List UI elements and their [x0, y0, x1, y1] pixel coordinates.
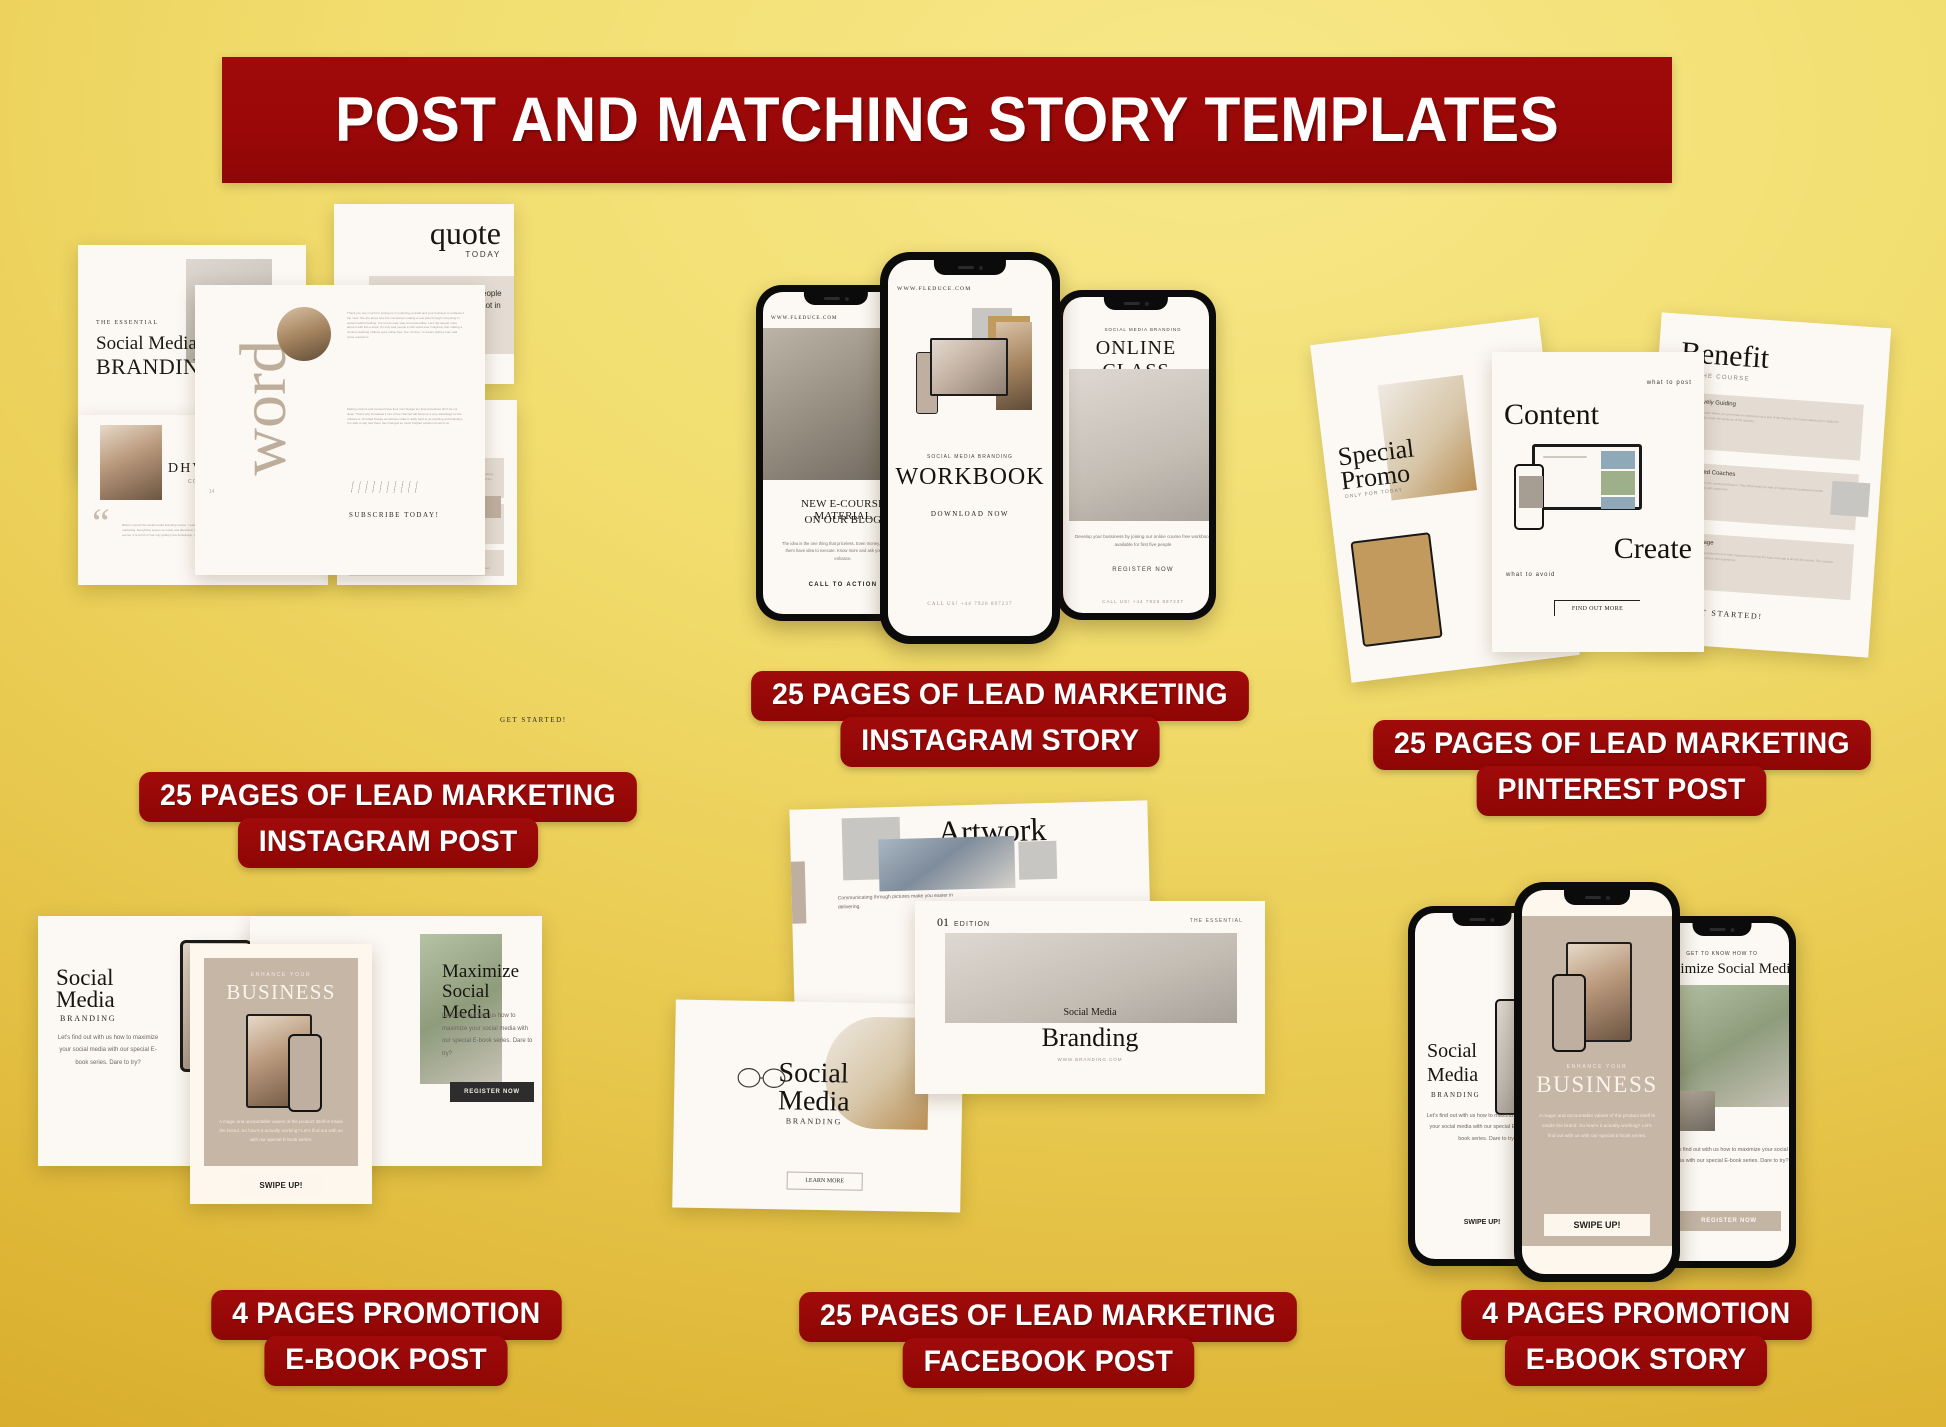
- ebook-story-1-title-2: Media: [1427, 1065, 1478, 1086]
- fb-edition-card[interactable]: 01 EDITION THE ESSENTIAL Social Media Br…: [915, 901, 1265, 1094]
- phone-notch: [1453, 913, 1512, 926]
- ig-post-profile-photo: [100, 425, 162, 500]
- ebook-story-1-subtitle: BRANDING: [1431, 1091, 1480, 1099]
- ig-story-1-url: WWW.FLEDUCE.COM: [771, 316, 838, 321]
- ig-post-word-cta[interactable]: SUBSCRIBE TODAY!: [349, 511, 439, 519]
- ebook-story-2-cta-wrap: SWIPE UP!: [1544, 1214, 1650, 1236]
- ig-story-3-eyebrow: SOCIAL MEDIA BRANDING: [1071, 327, 1209, 332]
- fb-social-subtitle: BRANDING: [786, 1116, 842, 1126]
- ig-story-2-url: WWW.FLEDUCE.COM: [897, 286, 972, 292]
- label-pinterest-post: 25 PAGES OF LEAD MARKETING PINTEREST POS…: [1360, 720, 1884, 816]
- label-line-1: 25 PAGES OF LEAD MARKETING: [751, 671, 1249, 721]
- ig-post-word-page-no: 14: [209, 489, 215, 495]
- ig-story-2-cta[interactable]: DOWNLOAD NOW: [888, 510, 1052, 518]
- ig-story-phone-center[interactable]: WWW.FLEDUCE.COM SOCIAL MEDIA BRANDING WO…: [880, 252, 1060, 644]
- pin-content-title-1: Content: [1504, 398, 1599, 432]
- page-title: POST AND MATCHING STORY TEMPLATES: [335, 84, 1559, 156]
- ebook-post-center-title: BUSINESS: [204, 980, 358, 1005]
- ig-story-2-footer: CALL US! +44 7926 897237: [888, 602, 1052, 607]
- signature-mark: [350, 481, 420, 493]
- label-line-2: E-BOOK POST: [265, 1336, 508, 1386]
- ebook-story-2-eyebrow: ENHANCE YOUR: [1522, 1064, 1672, 1070]
- ig-post-benefit-cta[interactable]: GET STARTED!: [500, 716, 567, 724]
- fb-artwork-photo-right: [1018, 841, 1057, 880]
- ebook-story-2-device-phone: [1552, 974, 1586, 1052]
- phone-notch: [1693, 923, 1752, 936]
- label-line-2: E-BOOK STORY: [1505, 1336, 1768, 1386]
- label-instagram-story: 25 PAGES OF LEAD MARKETING INSTAGRAM STO…: [738, 671, 1262, 767]
- ig-story-2-photo-main: [930, 338, 1008, 396]
- label-line-1: 25 PAGES OF LEAD MARKETING: [1373, 720, 1871, 770]
- pin-content-device-tablet: [1532, 444, 1642, 510]
- label-line-1: 25 PAGES OF LEAD MARKETING: [139, 772, 637, 822]
- ig-post-quote-subtitle: TODAY: [430, 250, 501, 259]
- ebook-post-right-title-1: Maximize: [442, 962, 519, 983]
- label-line-1: 4 PAGES PROMOTION: [1461, 1290, 1811, 1340]
- ig-story-2-eyebrow: SOCIAL MEDIA BRANDING: [888, 454, 1052, 460]
- fb-artwork-photo-edge: [789, 861, 806, 924]
- pin-content-card[interactable]: what to post Content Create what to avoi…: [1492, 352, 1704, 652]
- phone-notch: [934, 260, 1006, 275]
- label-line-2: PINTEREST POST: [1477, 766, 1767, 816]
- ig-story-3-cta[interactable]: REGISTER NOW: [1071, 567, 1209, 573]
- fb-edition-url: WWW.BRANDING.COM: [915, 1057, 1265, 1062]
- ebook-post-center-eyebrow: ENHANCE YOUR: [204, 972, 358, 978]
- label-facebook-post: 25 PAGES OF LEAD MARKETING FACEBOOK POST: [786, 1292, 1310, 1388]
- ig-story-3-photo: [1069, 369, 1209, 521]
- phone-notch: [1564, 890, 1630, 905]
- ig-post-word-body2: Making content and concept have their ow…: [347, 407, 465, 426]
- ig-story-phone-right[interactable]: SOCIAL MEDIA BRANDING ONLINE CLASS Devel…: [1056, 290, 1216, 620]
- ebook-post-right-body: Let's find out with us how to maximize y…: [442, 1010, 534, 1060]
- ig-post-word-body1: Thank you very much for joining us in ex…: [347, 311, 465, 340]
- phone-notch: [804, 292, 868, 305]
- poster-title-banner: POST AND MATCHING STORY TEMPLATES: [222, 57, 1672, 183]
- phone-notch: [1104, 297, 1168, 310]
- ig-story-3-footer: CALL US! +44 7926 897237: [1071, 599, 1209, 604]
- fb-edition-corner: THE ESSENTIAL: [1190, 918, 1243, 924]
- ebook-story-3-photo: [1665, 985, 1789, 1107]
- label-line-2: INSTAGRAM STORY: [840, 717, 1160, 767]
- label-line-1: 25 PAGES OF LEAD MARKETING: [799, 1292, 1297, 1342]
- pin-benefit-thumb: [1830, 481, 1870, 518]
- ebook-post-center-device-phone: [288, 1034, 322, 1112]
- ebook-post-left-subtitle: BRANDING: [60, 1014, 116, 1023]
- fb-edition-no: 01: [937, 915, 949, 930]
- ebook-story-phone-center[interactable]: ENHANCE YOUR BUSINESS A magic and uncoun…: [1514, 882, 1680, 1282]
- label-ebook-post: 4 PAGES PROMOTION E-BOOK POST: [202, 1290, 571, 1386]
- fb-social-cta[interactable]: LEARN MORE: [787, 1171, 863, 1190]
- ebook-story-2-cta[interactable]: SWIPE UP!: [1573, 1220, 1620, 1230]
- pin-content-title-2: Create: [1614, 532, 1692, 566]
- ebook-story-3-cta[interactable]: REGISTER NOW: [1677, 1211, 1781, 1231]
- ebook-post-center-cta[interactable]: SWIPE UP!: [259, 1181, 302, 1190]
- ebook-post-left-body: Let's find out with us how to maximize y…: [54, 1032, 162, 1069]
- ig-post-word-card[interactable]: word 14 Thank you very much for joining …: [195, 285, 485, 575]
- ebook-post-left-title-2: Media: [56, 988, 115, 1012]
- ebook-post-center-card[interactable]: ENHANCE YOUR BUSINESS A magic and uncoun…: [190, 944, 372, 1204]
- label-ebook-story: 4 PAGES PROMOTION E-BOOK STORY: [1452, 1290, 1821, 1386]
- label-instagram-post: 25 PAGES OF LEAD MARKETING INSTAGRAM POS…: [126, 772, 650, 868]
- ebook-story-2-body: A magic and uncountable values of the pr…: [1538, 1112, 1656, 1142]
- fb-edition-title-2: Branding: [915, 1023, 1265, 1053]
- ebook-story-1-title-1: Social: [1427, 1041, 1477, 1062]
- ebook-post-center-cta-wrap: SWIPE UP!: [240, 1174, 322, 1196]
- ig-story-2-title: WORKBOOK: [888, 464, 1052, 491]
- ig-post-word-vertical: word: [231, 340, 297, 476]
- fb-artwork-photo-team: [878, 836, 1015, 892]
- ig-post-word-avatar: [277, 307, 331, 361]
- fb-social-title-2: Media: [778, 1085, 850, 1118]
- ig-story-3-body: Develop your bussiness by joining our on…: [1073, 533, 1209, 549]
- pin-content-bottom-note: what to avoid: [1506, 572, 1555, 578]
- ebook-post-center-inner: ENHANCE YOUR BUSINESS A magic and uncoun…: [204, 958, 358, 1166]
- ebook-story-1-body: Let's find out with us how to maximize y…: [1425, 1111, 1517, 1145]
- quote-mark-open-icon: “: [92, 511, 110, 535]
- label-line-1: 4 PAGES PROMOTION: [211, 1290, 561, 1340]
- pin-content-cta[interactable]: FIND OUT MORE: [1554, 600, 1640, 616]
- ebook-post-right-cta[interactable]: REGISTER NOW: [450, 1082, 534, 1102]
- pin-content-top-note: what to post: [1647, 380, 1692, 386]
- ig-post-quote-title: quote: [430, 218, 501, 248]
- ebook-story-3-body: Let's find out with us how to maximize y…: [1663, 1145, 1789, 1168]
- label-line-2: FACEBOOK POST: [902, 1338, 1193, 1388]
- label-line-2: INSTAGRAM POST: [238, 818, 538, 868]
- pin-promo-photo-tablet: [1350, 532, 1442, 647]
- fb-edition-title-1: Social Media: [915, 1007, 1265, 1018]
- fb-edition-label: EDITION: [954, 921, 990, 928]
- ebook-story-2-title: BUSINESS: [1522, 1072, 1672, 1098]
- ebook-story-2-inner: ENHANCE YOUR BUSINESS A magic and uncoun…: [1522, 916, 1672, 1246]
- poster-canvas: POST AND MATCHING STORY TEMPLATES THE ES…: [0, 0, 1946, 1427]
- ebook-post-center-body: A magic and uncountable values of the pr…: [218, 1118, 344, 1145]
- pin-content-device-phone: [1514, 464, 1544, 530]
